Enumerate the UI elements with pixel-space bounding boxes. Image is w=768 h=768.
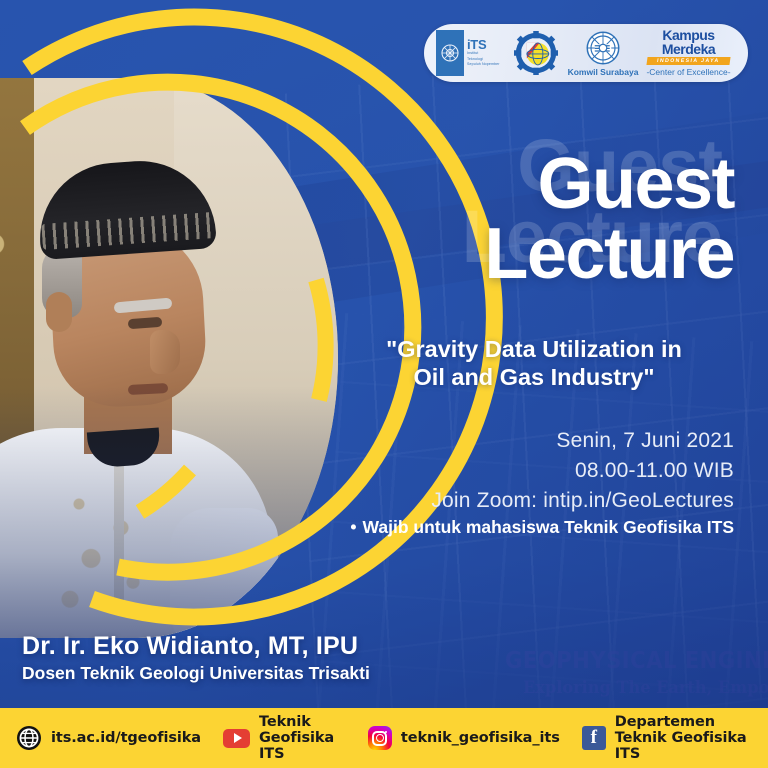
page-title: Guest Lecture: [304, 150, 734, 290]
speaker-name: Dr. Ir. Eko Widianto, MT, IPU: [22, 632, 370, 661]
speaker-photo-image: [0, 78, 338, 638]
its-badge-icon: [436, 30, 464, 76]
facebook-icon: f: [582, 726, 606, 750]
footer-instagram-label: teknik_geofisika_its: [401, 730, 560, 746]
globe-icon: [16, 725, 42, 751]
header-logo-bar: iTS Institut Teknologi Sepuluh Nopember: [424, 24, 748, 82]
bullet-icon: •: [350, 517, 356, 538]
footer-instagram[interactable]: teknik_geofisika_its: [368, 726, 560, 750]
footer-website-label: its.ac.id/tgeofisika: [51, 730, 201, 746]
attendance-note-text: Wajib untuk mahasiswa Teknik Geofisika I…: [363, 517, 735, 537]
footer-facebook-label: Departemen Teknik Geofisika ITS: [615, 714, 768, 762]
footer-youtube[interactable]: Teknik Geofisika ITS: [223, 714, 346, 762]
komwil-caption: Komwil Surabaya: [568, 67, 639, 77]
its-line3: Sepuluh Nopember: [467, 62, 500, 67]
center-of-excellence-caption: -Center of Excellence-: [646, 67, 730, 77]
kampus-merdeka-line2: Merdeka: [662, 43, 715, 56]
komwil-emblem-icon: [585, 30, 621, 66]
komwil-surabaya-logo: Komwil Surabaya: [568, 30, 639, 77]
its-abbr: iTS: [467, 38, 500, 51]
poster-canvas: GEOPHYSICAL ENGINEER Exploring The Earth…: [0, 0, 768, 768]
its-wordmark: iTS Institut Teknologi Sepuluh Nopember: [467, 38, 500, 67]
its-logo: iTS Institut Teknologi Sepuluh Nopember: [436, 24, 500, 82]
teknik-geofisika-gear-logo: [514, 24, 558, 82]
gear-globe-icon: [514, 31, 558, 75]
youtube-icon: [223, 729, 250, 748]
footer-facebook[interactable]: f Departemen Teknik Geofisika ITS: [582, 714, 768, 762]
its-emblem-icon: [440, 43, 460, 63]
footer-website[interactable]: its.ac.id/tgeofisika: [16, 725, 201, 751]
speaker-role: Dosen Teknik Geologi Universitas Trisakt…: [22, 663, 370, 684]
footer-bar: its.ac.id/tgeofisika Teknik Geofisika IT…: [0, 708, 768, 768]
kampus-merdeka-ribbon: INDONESIA JAYA: [647, 57, 731, 65]
attendance-note: •Wajib untuk mahasiswa Teknik Geofisika …: [314, 517, 734, 538]
hero-title-block: Guest Lecture: [304, 150, 734, 290]
photo-shade: [0, 78, 338, 638]
speaker-info: Dr. Ir. Eko Widianto, MT, IPU Dosen Tekn…: [22, 632, 370, 684]
instagram-icon: [368, 726, 392, 750]
speaker-photo: [0, 78, 338, 638]
schedule-details: Senin, 7 Juni 2021 08.00-11.00 WIB Join …: [334, 426, 734, 515]
lecture-subtitle: "Gravity Data Utilization in Oil and Gas…: [334, 336, 734, 391]
kampus-merdeka-logo: Kampus Merdeka INDONESIA JAYA -Center of…: [646, 29, 730, 77]
footer-youtube-label: Teknik Geofisika ITS: [259, 714, 346, 762]
